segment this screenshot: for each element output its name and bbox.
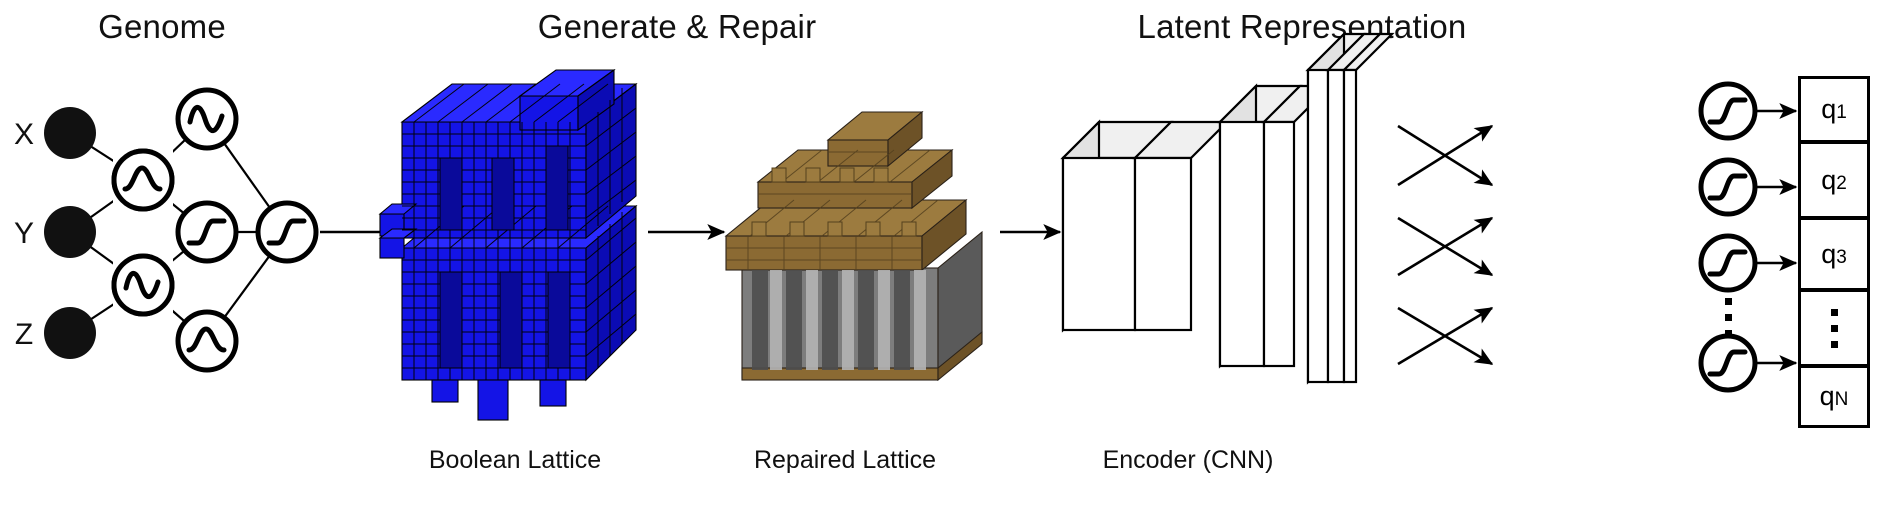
latent-vector-cell-q2[interactable]: q2	[1798, 142, 1870, 218]
latent-neuron-ellipsis	[1724, 296, 1732, 338]
latent-neuron-3[interactable]	[1701, 236, 1755, 290]
genome-input-label-y: Y	[14, 217, 34, 250]
latent-neuron-2[interactable]	[1701, 160, 1755, 214]
latent-vector-cell-q3[interactable]: q3	[1798, 218, 1870, 290]
genome-input-nodes	[44, 107, 96, 359]
figure-canvas: Genome Generate & Repair Latent Represen…	[0, 0, 1886, 512]
encoder-cnn-layers	[1063, 34, 1392, 382]
latent-vector-cell-label: q2	[1821, 165, 1847, 196]
latent-vector-cell-label: q3	[1821, 239, 1847, 270]
genome-hidden-node-sigmoid-1[interactable]	[178, 203, 236, 261]
genome-input-label-x: X	[14, 118, 34, 151]
latent-vector-cell-label: q1	[1821, 94, 1847, 125]
latent-neuron-1[interactable]	[1701, 84, 1755, 138]
latent-fanout-arrows	[1398, 126, 1492, 364]
latent-vector-cell-label: qN	[1820, 381, 1849, 412]
genome-hidden-node-gaussian-2[interactable]	[178, 312, 236, 370]
genome-input-node-y[interactable]	[44, 206, 96, 258]
genome-output-node-sigmoid[interactable]	[258, 203, 316, 261]
cnn-layer-conv7[interactable]	[1344, 34, 1392, 382]
genome-hidden-node-sine-2[interactable]	[178, 90, 236, 148]
latent-vector-cell-q1[interactable]: q1	[1798, 76, 1870, 142]
cnn-layer-conv2[interactable]	[1135, 122, 1227, 330]
genome-input-node-z[interactable]	[44, 307, 96, 359]
gaussian-activation-icon-overlay	[113, 150, 173, 210]
vector-ellipsis-dots	[1831, 309, 1838, 348]
latent-output-arrows	[1756, 111, 1796, 363]
repaired-lattice-voxel-model	[726, 112, 982, 380]
boolean-lattice-voxel-model	[380, 70, 636, 420]
latent-vector-cell-ellipsis	[1798, 290, 1870, 366]
diagram-svg: X Y Z	[0, 0, 1886, 512]
sine-activation-icon-overlay	[113, 255, 173, 315]
latent-vector-cell-qN[interactable]: qN	[1798, 366, 1870, 428]
genome-input-node-x[interactable]	[44, 107, 96, 159]
genome-input-label-z: Z	[15, 318, 33, 351]
latent-neuron-n[interactable]	[1701, 336, 1755, 390]
